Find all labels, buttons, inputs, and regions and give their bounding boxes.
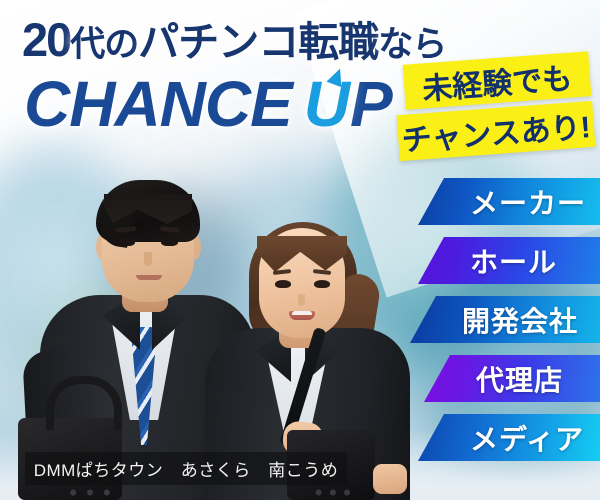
man-nose [144, 252, 152, 266]
category-tag-maker[interactable]: メーカー [418, 178, 600, 225]
category-tag-label: 代理店 [476, 359, 563, 399]
woman-eye-left [275, 280, 291, 288]
woman-eye-right [314, 280, 330, 288]
credit-strip: DMMぱちタウン あさくら 南こうめ [25, 452, 347, 485]
woman-mouth [289, 311, 315, 320]
category-tag-hall[interactable]: ホール [418, 237, 600, 284]
credit-text: DMMぱちタウン あさくら 南こうめ [34, 456, 339, 481]
category-tag-label: ホール [470, 241, 557, 281]
headline: 20代のパチンコ転職なら [22, 16, 446, 63]
man-eye-right [161, 238, 178, 246]
logo-u-wrapper: U [304, 72, 349, 136]
man-mouth [136, 275, 162, 280]
woman-nose [298, 294, 305, 306]
models-photo [0, 140, 430, 500]
category-tag-developer[interactable]: 開発会社 [410, 296, 600, 343]
man-briefcase-studs [66, 489, 114, 496]
advertisement-banner[interactable]: 20代のパチンコ転職なら CHANCEUP 未経験でも チャンスあり! メーカー… [0, 0, 600, 500]
headline-keyword: パチンコ転職 [138, 19, 378, 65]
category-tag-agency[interactable]: 代理店 [424, 355, 600, 402]
category-tag-label: 開発会社 [462, 300, 578, 340]
logo-p-letter: P [350, 68, 392, 140]
headline-suffix: 代の [70, 25, 138, 64]
chance-up-logo: CHANCEUP [24, 72, 392, 136]
category-tag-media[interactable]: メディア [418, 414, 600, 461]
logo-chance-text: CHANCE [24, 68, 292, 140]
category-tag-label: メーカー [470, 182, 586, 222]
category-tag-label: メディア [470, 418, 584, 458]
headline-age: 20 [22, 13, 70, 66]
headline-tail: なら [378, 25, 446, 64]
woman-cuff [373, 464, 407, 494]
man-briefcase-handle [46, 376, 122, 430]
man-eye-left [118, 238, 135, 246]
woman-bag-studs [311, 489, 353, 496]
